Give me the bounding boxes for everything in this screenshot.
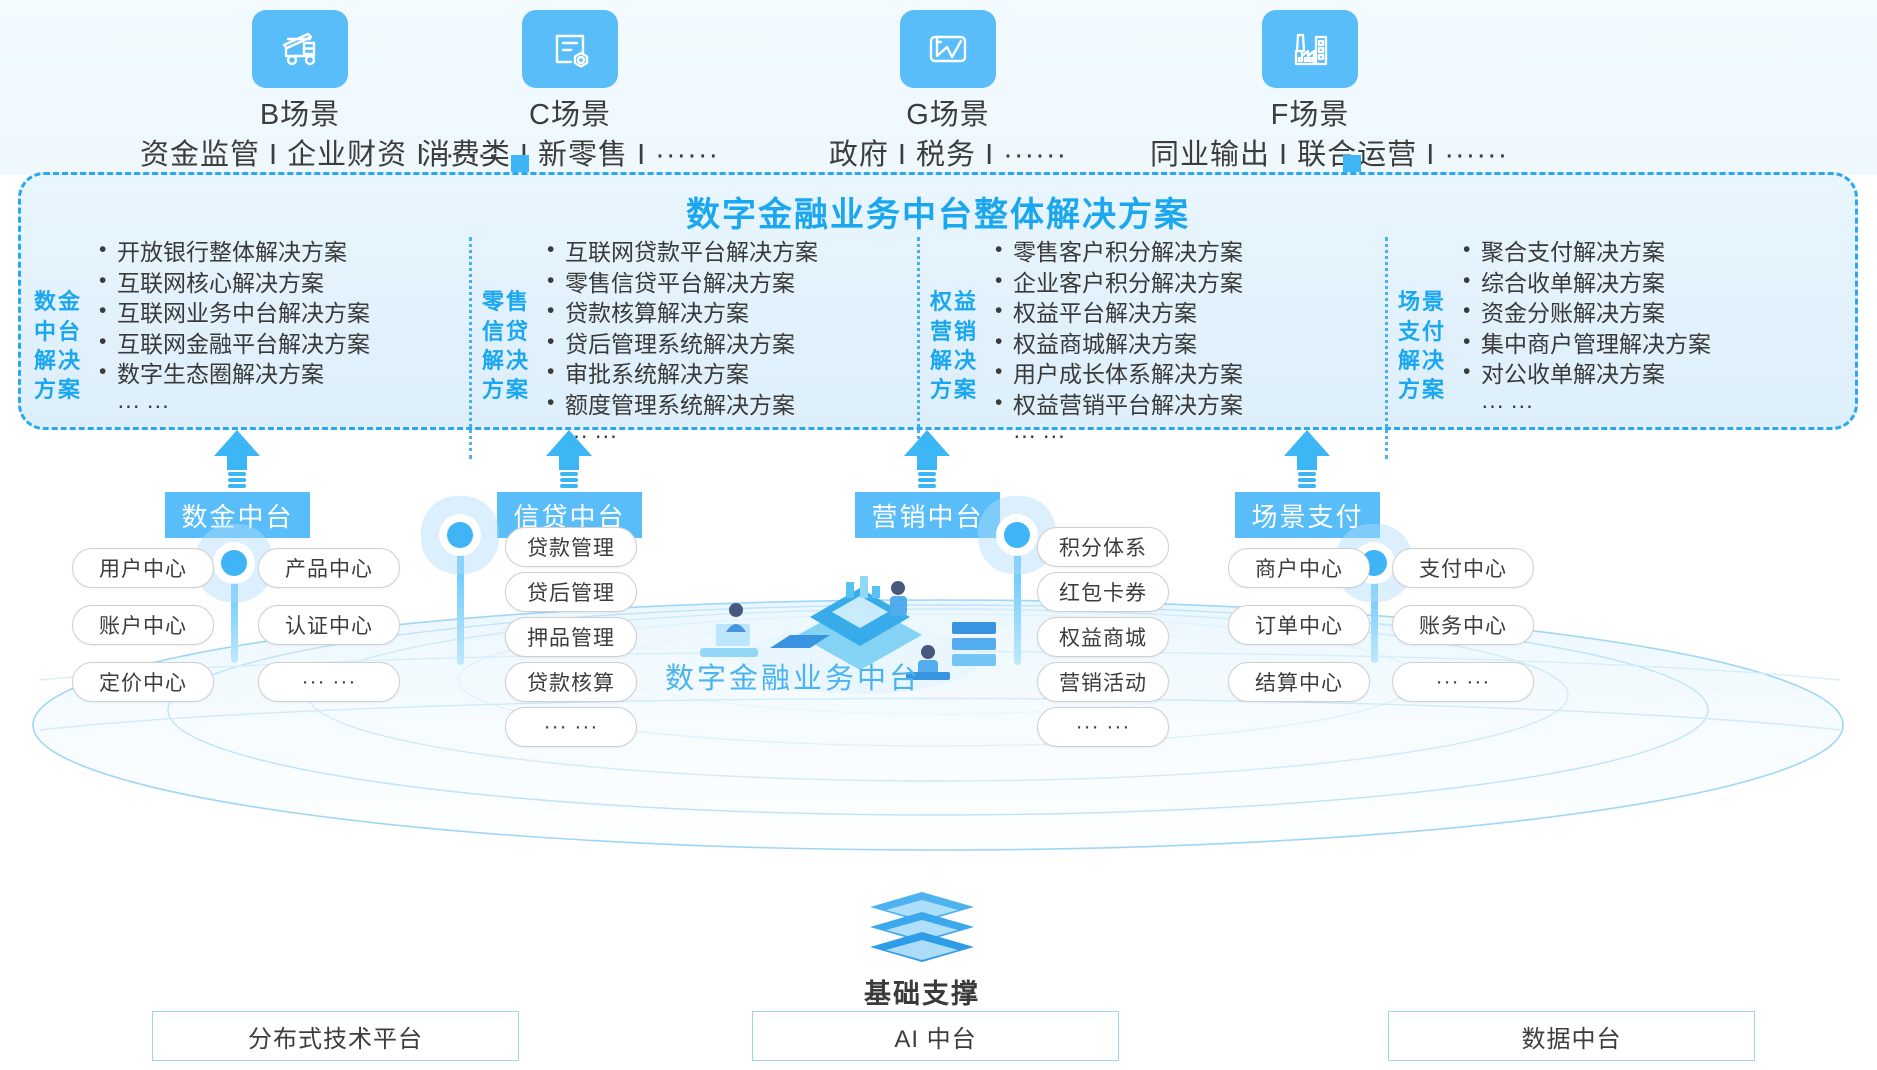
up-arrow-shujin: [214, 430, 260, 496]
pill-label: 营销活动: [1059, 667, 1147, 697]
list-item: 权益商城解决方案: [993, 329, 1379, 360]
pill-label: 结算中心: [1255, 667, 1343, 697]
pill-shujin-more[interactable]: ··· ···: [258, 662, 400, 702]
pill-label: 用户中心: [99, 553, 187, 583]
list-item: 贷后管理系统解决方案: [545, 329, 911, 360]
pill-label: 押品管理: [527, 622, 615, 652]
pill-label: 账户中心: [99, 610, 187, 640]
list-item: 互联网核心解决方案: [97, 268, 463, 299]
pill-label: 红包卡券: [1059, 577, 1147, 607]
pill-label: 认证中心: [285, 610, 373, 640]
pill-auth-center[interactable]: 认证中心: [258, 605, 400, 645]
pill-settlement-center[interactable]: 结算中心: [1228, 662, 1370, 702]
scene-subtitle: 政府 I 税务 I ······: [788, 137, 1108, 173]
pill-label: 定价中心: [99, 667, 187, 697]
pill-product-center[interactable]: 产品中心: [258, 548, 400, 588]
column-label: 零售信贷解决方案: [475, 283, 537, 405]
scene-title: G场景: [788, 98, 1108, 133]
base-box-label: 数据中台: [1522, 1019, 1622, 1054]
platform-box-zhifu[interactable]: 场景支付: [1235, 492, 1380, 538]
pill-account-center[interactable]: 账户中心: [72, 605, 214, 645]
platform-label: 数金中台: [181, 497, 293, 534]
list-item: 额度管理系统解决方案: [545, 390, 911, 421]
list-item: 零售信贷平台解决方案: [545, 268, 911, 299]
pill-label: 支付中心: [1419, 553, 1507, 583]
list-item: 企业客户积分解决方案: [993, 268, 1379, 299]
list-item: 对公收单解决方案: [1461, 359, 1849, 390]
column-items: 开放银行整体解决方案 互联网核心解决方案 互联网业务中台解决方案 互联网金融平台…: [89, 237, 463, 451]
connector-node-shujin: [221, 550, 247, 576]
list-item: 权益营销平台解决方案: [993, 390, 1379, 421]
pill-label: 贷款核算: [527, 667, 615, 697]
list-item: 互联网业务中台解决方案: [97, 298, 463, 329]
scene-title: C场景: [410, 98, 730, 133]
factory-icon: [1262, 10, 1358, 88]
base-box-ai-platform[interactable]: AI 中台: [752, 1011, 1119, 1061]
up-arrow-xindai: [546, 430, 592, 496]
list-item: 互联网贷款平台解决方案: [545, 237, 911, 268]
pill-label: ··· ···: [544, 715, 599, 739]
list-item: 审批系统解决方案: [545, 359, 911, 390]
list-item: 综合收单解决方案: [1461, 268, 1849, 299]
pill-label: ··· ···: [302, 670, 357, 694]
base-box-label: AI 中台: [894, 1019, 976, 1054]
pill-label: 产品中心: [285, 553, 373, 583]
base-support-label: 基础支撑: [862, 972, 982, 1011]
pill-user-center[interactable]: 用户中心: [72, 548, 214, 588]
up-arrow-yingxiao: [904, 430, 950, 496]
pill-label: 贷后管理: [527, 577, 615, 607]
scene-card-f[interactable]: F场景 同业输出 I 联合运营 I ······: [1150, 10, 1470, 173]
column-items: 互联网贷款平台解决方案 零售信贷平台解决方案 贷款核算解决方案 贷后管理系统解决…: [537, 237, 911, 451]
scene-band: B场景 资金监管 I 企业财资 I ······ C场景 消费类 I 新零售 I…: [0, 0, 1877, 175]
pill-label: 账务中心: [1419, 610, 1507, 640]
scene-card-c[interactable]: C场景 消费类 I 新零售 I ······: [410, 10, 730, 173]
list-item: 资金分账解决方案: [1461, 298, 1849, 329]
pill-coupon-voucher[interactable]: 红包卡券: [1037, 572, 1169, 612]
solution-columns: 数金中台解决方案 开放银行整体解决方案 互联网核心解决方案 互联网业务中台解决方…: [21, 237, 1855, 451]
list-item: 用户成长体系解决方案: [993, 359, 1379, 390]
pill-label: 贷款管理: [527, 532, 615, 562]
pill-label: 积分体系: [1059, 532, 1147, 562]
list-item: 贷款核算解决方案: [545, 298, 911, 329]
pill-rights-mall[interactable]: 权益商城: [1037, 617, 1169, 657]
pill-loan-management[interactable]: 贷款管理: [505, 527, 637, 567]
platform-box-yingxiao[interactable]: 营销中台: [855, 492, 1000, 538]
column-items: 聚合支付解决方案 综合收单解决方案 资金分账解决方案 集中商户管理解决方案 对公…: [1453, 237, 1849, 451]
platform-box-shujin[interactable]: 数金中台: [165, 492, 310, 538]
column-label: 权益营销解决方案: [923, 283, 985, 405]
solution-column-changjing: 场景支付解决方案 聚合支付解决方案 综合收单解决方案 资金分账解决方案 集中商户…: [1385, 237, 1855, 451]
solution-column-quanyi: 权益营销解决方案 零售客户积分解决方案 企业客户积分解决方案 权益平台解决方案 …: [917, 237, 1385, 451]
base-box-data-platform[interactable]: 数据中台: [1388, 1011, 1755, 1061]
pill-payment-center[interactable]: 支付中心: [1392, 548, 1534, 588]
scene-title: F场景: [1150, 98, 1470, 133]
pill-order-center[interactable]: 订单中心: [1228, 605, 1370, 645]
list-item: 零售客户积分解决方案: [993, 237, 1379, 268]
list-item: 开放银行整体解决方案: [97, 237, 463, 268]
pill-points-system[interactable]: 积分体系: [1037, 527, 1169, 567]
connector-node-xindai: [447, 522, 473, 548]
mid-caption: 数字金融业务中台: [665, 655, 921, 697]
base-box-distributed-platform[interactable]: 分布式技术平台: [152, 1011, 519, 1061]
list-item: 聚合支付解决方案: [1461, 237, 1849, 268]
list-item: 权益平台解决方案: [993, 298, 1379, 329]
pill-yingxiao-more[interactable]: ··· ···: [1037, 707, 1169, 747]
pill-xindai-more[interactable]: ··· ···: [505, 707, 637, 747]
pill-loan-accounting[interactable]: 贷款核算: [505, 662, 637, 702]
pill-collateral-management[interactable]: 押品管理: [505, 617, 637, 657]
pill-label: 商户中心: [1255, 553, 1343, 583]
scene-card-g[interactable]: G场景 政府 I 税务 I ······: [788, 10, 1108, 173]
pill-merchant-center[interactable]: 商户中心: [1228, 548, 1370, 588]
pill-post-loan-management[interactable]: 贷后管理: [505, 572, 637, 612]
pill-label: 订单中心: [1255, 610, 1343, 640]
pill-marketing-campaign[interactable]: 营销活动: [1037, 662, 1169, 702]
up-arrow-zhifu: [1284, 430, 1330, 496]
map-icon: [900, 10, 996, 88]
pill-accounting-center[interactable]: 账务中心: [1392, 605, 1534, 645]
pill-label: ··· ···: [1076, 715, 1131, 739]
column-label: 场景支付解决方案: [1391, 283, 1453, 405]
list-item: 集中商户管理解决方案: [1461, 329, 1849, 360]
pill-zhifu-more[interactable]: ··· ···: [1392, 662, 1534, 702]
diagram-canvas: B场景 资金监管 I 企业财资 I ······ C场景 消费类 I 新零售 I…: [0, 0, 1877, 1070]
layers-stack-icon: [862, 890, 982, 968]
solution-column-lingshou: 零售信贷解决方案 互联网贷款平台解决方案 零售信贷平台解决方案 贷款核算解决方案…: [469, 237, 917, 451]
panel-title: 数字金融业务中台整体解决方案: [21, 187, 1855, 236]
document-search-icon: [522, 10, 618, 88]
list-ellipsis: ··· ···: [1461, 390, 1849, 421]
pill-label: 权益商城: [1059, 622, 1147, 652]
connector-stem-xindai: [457, 530, 464, 665]
pill-label: ··· ···: [1436, 670, 1491, 694]
list-item: 互联网金融平台解决方案: [97, 329, 463, 360]
solution-panel: 数字金融业务中台整体解决方案 数金中台解决方案 开放银行整体解决方案 互联网核心…: [18, 172, 1858, 430]
column-items: 零售客户积分解决方案 企业客户积分解决方案 权益平台解决方案 权益商城解决方案 …: [985, 237, 1379, 451]
base-box-label: 分布式技术平台: [248, 1019, 423, 1054]
solution-column-shujin: 数金中台解决方案 开放银行整体解决方案 互联网核心解决方案 互联网业务中台解决方…: [21, 237, 469, 451]
pill-pricing-center[interactable]: 定价中心: [72, 662, 214, 702]
truck-icon: [252, 10, 348, 88]
platform-label: 营销中台: [871, 497, 983, 534]
list-item: 数字生态圈解决方案: [97, 359, 463, 390]
scene-subtitle: 消费类 I 新零售 I ······: [410, 137, 730, 173]
column-label: 数金中台解决方案: [27, 283, 89, 405]
scene-subtitle: 同业输出 I 联合运营 I ······: [1150, 137, 1470, 173]
list-ellipsis: ··· ···: [97, 390, 463, 421]
platform-label: 场景支付: [1251, 497, 1363, 534]
platform-zone: 数金中台 信贷中台 营销中台 场景支付: [0, 430, 1877, 900]
